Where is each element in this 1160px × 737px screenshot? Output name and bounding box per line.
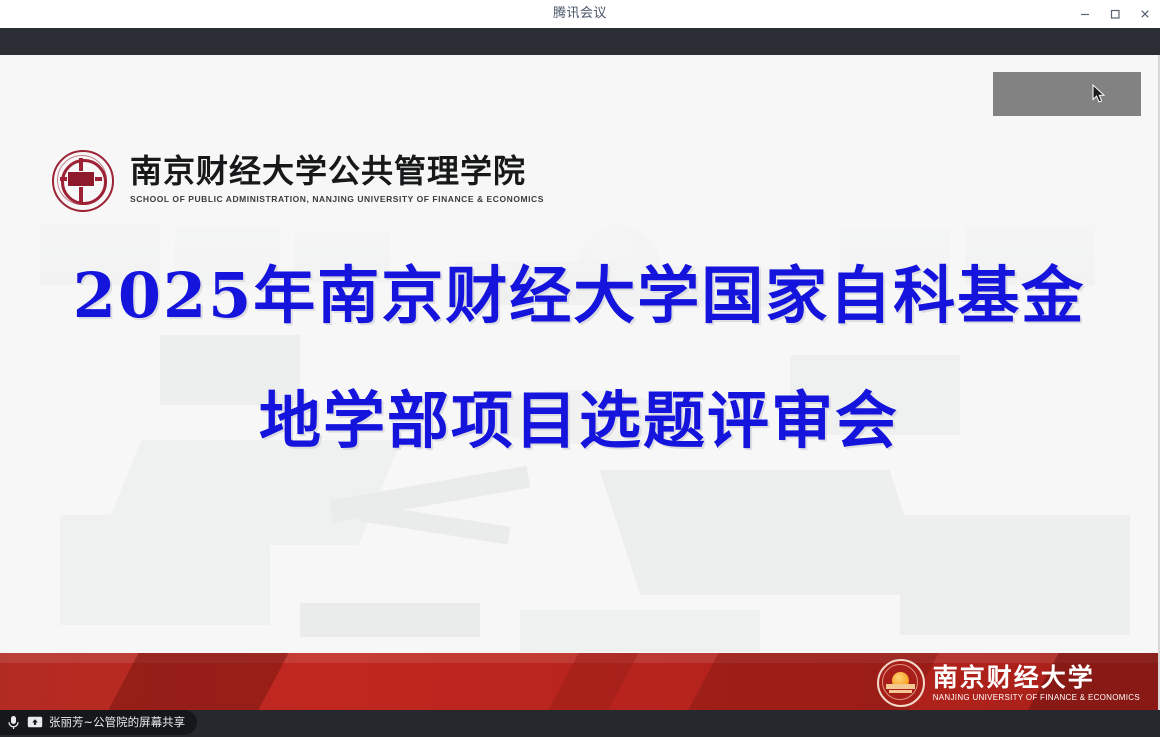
tencent-meeting-window: 腾讯会议	[0, 0, 1160, 737]
gray-placeholder-box[interactable]	[993, 72, 1141, 116]
maximize-icon	[1109, 8, 1121, 20]
school-logo-en: SCHOOL OF PUBLIC ADMINISTRATION, NANJING…	[130, 194, 544, 204]
minimize-button[interactable]	[1070, 0, 1100, 28]
slide-headline: 2025年南京财经大学国家自科基金 地学部项目选题评审会	[0, 233, 1158, 483]
school-logo: 南京财经大学公共管理学院 SCHOOL OF PUBLIC ADMINISTRA…	[52, 150, 544, 212]
university-logo: 南京财经大学 NANJING UNIVERSITY OF FINANCE & E…	[877, 659, 1140, 707]
presentation-slide: 南京财经大学公共管理学院 SCHOOL OF PUBLIC ADMINISTRA…	[0, 55, 1160, 710]
meeting-toolbar-strip	[0, 28, 1160, 55]
slide-headline-line1: 2025年南京财经大学国家自科基金	[0, 233, 1158, 358]
university-name-cn: 南京财经大学	[933, 664, 1140, 692]
shared-screen-stage: 南京财经大学公共管理学院 SCHOOL OF PUBLIC ADMINISTRA…	[0, 55, 1160, 710]
school-seal-icon	[52, 150, 114, 212]
slide-headline-line2: 地学部项目选题评审会	[0, 358, 1158, 483]
screen-share-label: 张丽芳~公管院的屏幕共享	[49, 710, 185, 735]
screen-share-icon[interactable]	[27, 716, 43, 729]
window-title: 腾讯会议	[553, 0, 607, 28]
university-name-en: NANJING UNIVERSITY OF FINANCE & ECONOMIC…	[933, 693, 1140, 702]
close-icon	[1139, 8, 1151, 20]
school-logo-cn: 南京财经大学公共管理学院	[130, 152, 544, 190]
university-emblem-icon	[877, 659, 925, 707]
minimize-icon	[1079, 8, 1091, 20]
close-button[interactable]	[1130, 0, 1160, 28]
screen-share-status-pill[interactable]: 张丽芳~公管院的屏幕共享	[0, 710, 197, 735]
slide-footer-band: 南京财经大学 NANJING UNIVERSITY OF FINANCE & E…	[0, 653, 1158, 710]
window-titlebar: 腾讯会议	[0, 0, 1160, 28]
window-controls	[1070, 0, 1160, 28]
maximize-button[interactable]	[1100, 0, 1130, 28]
microphone-icon[interactable]	[6, 714, 21, 731]
